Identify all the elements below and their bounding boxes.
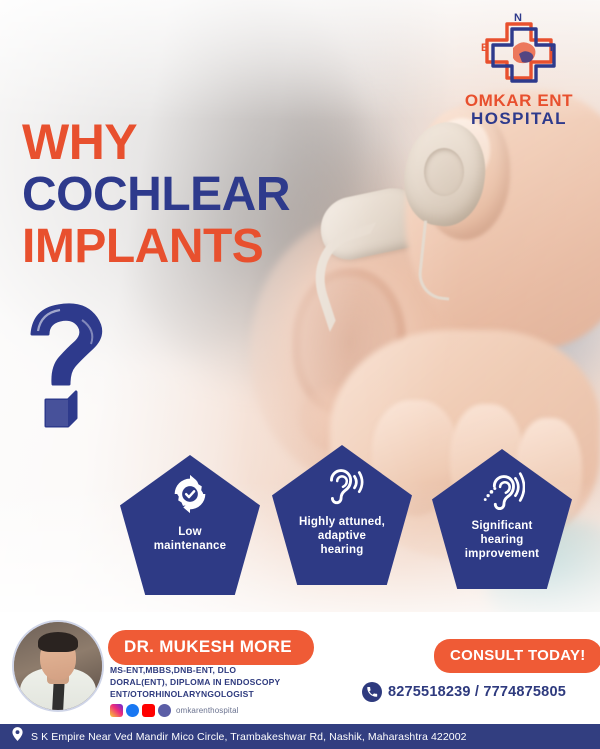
address-footer: S K Empire Near Ved Mandir Mico Circle, … [0,724,600,749]
logo-letter-e: E [481,42,489,54]
social-links: omkarenthospital [110,704,239,717]
credentials-line-3: ENT/OTORHINOLARYNGOLOGIST [110,688,280,700]
youtube-icon[interactable] [142,704,155,717]
ear-soundwave-icon [319,461,365,507]
badge-label: Significanthearingimprovement [446,519,558,561]
badge-label: Lowmaintenance [134,525,246,553]
question-mark-decoration [16,300,120,445]
headline-line-3: IMPLANTS [22,224,290,270]
location-pin-icon [12,727,23,746]
benefit-badges: Lowmaintenance Highly attuned,adaptivehe… [0,443,600,603]
doctor-credentials: MS-ENT,MBBS,DNB-ENT, DLO DORAL(ENT), DIP… [110,664,280,700]
headline: WHY COCHLEAR IMPLANTS [22,118,290,276]
logo-letter-t: T [548,42,555,54]
headline-line-2: COCHLEAR [22,172,290,218]
badge-adaptive-hearing[interactable]: Highly attuned,adaptivehearing [272,445,412,585]
poster: N E T OMKAR ENT HOSPITAL WHY COCHLEAR IM… [0,0,600,749]
credentials-line-1: MS-ENT,MBBS,DNB-ENT, DLO [110,664,280,676]
logo-name: OMKAR ENT [454,92,584,110]
badge-label: Highly attuned,adaptivehearing [286,515,398,557]
twitter-icon[interactable] [158,704,171,717]
gear-check-icon [167,471,213,517]
address-text: S K Empire Near Ved Mandir Mico Circle, … [31,731,467,743]
badge-low-maintenance[interactable]: Lowmaintenance [120,455,260,595]
phone-icon [362,682,382,702]
logo-letter-n: N [514,12,522,24]
credentials-line-2: DORAL(ENT), DIPLOMA IN ENDOSCOPY [110,676,280,688]
badge-hearing-improvement[interactable]: Significanthearingimprovement [432,449,572,589]
hospital-logo: N E T OMKAR ENT HOSPITAL [454,12,584,129]
headline-line-1: WHY [22,118,290,166]
doctor-avatar [12,620,104,712]
phone-contact[interactable]: 8275518239 / 7774875805 [362,682,566,702]
instagram-icon[interactable] [110,704,123,717]
social-handle: omkarenthospital [176,706,239,715]
facebook-icon[interactable] [126,704,139,717]
avatar-hair [38,632,78,652]
ear-hearing-improvement-icon [479,465,525,511]
phone-number: 8275518239 / 7774875805 [388,684,566,700]
logo-inner-emblem [513,42,535,63]
logo-subtitle: HOSPITAL [454,110,584,129]
consult-today-button[interactable]: CONSULT TODAY! [434,639,600,673]
question-mark-icon [16,300,120,440]
logo-cross-mark: N E T [473,12,565,90]
doctor-name: DR. MUKESH MORE [108,630,314,665]
